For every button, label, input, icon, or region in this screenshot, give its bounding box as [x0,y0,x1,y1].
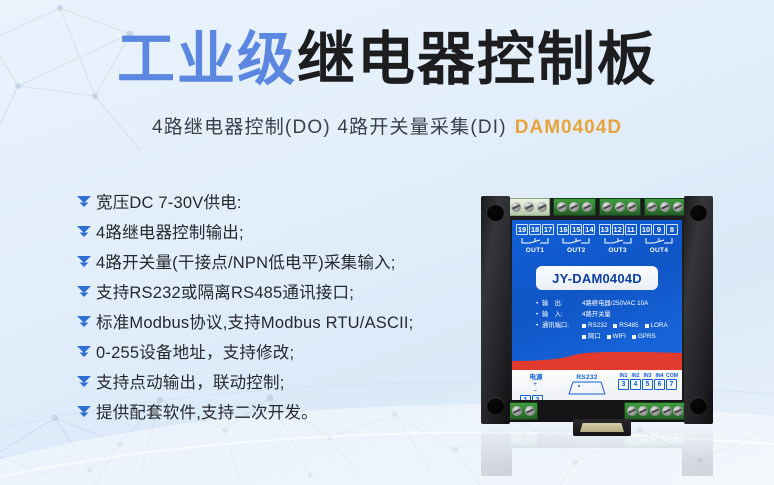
double-chevron-down-icon [74,222,96,240]
mounting-tab-left [481,196,510,424]
spec-value: 4路继电器/250VAC 10A [582,298,648,309]
spec-row-input: • 输 入: 4路开关量 [536,309,682,320]
terminal-block [624,402,686,420]
terminal-number: 17 [542,224,554,235]
pin-number: 3 [618,379,629,390]
product-device-image: 19 18 17 OUT1 16 15 14 [481,196,713,424]
relay-contact-symbol-icon [599,236,637,247]
terminal-number: 8 [666,224,678,235]
device-front-label: 19 18 17 OUT1 16 15 14 [512,220,682,370]
screw-icon [615,202,625,212]
terminal-number: 14 [583,224,595,235]
serial-port-label: RS232 [564,374,610,381]
feature-text: 支持RS232或隔离RS485通讯接口; [96,279,354,303]
screw-icon [524,202,534,212]
power-pin-row: 1 2 [520,395,552,400]
headline-blue-part: 工业级 [117,27,297,92]
spec-row-ports: • 通讯端口: RS232 RS485 LORA [536,320,682,331]
port-label: GPRS [638,331,656,342]
input-section: IN1 IN2 IN3 IN4 COM 3 4 5 6 7 [618,373,677,390]
spec-key: 通讯端口: [542,320,582,331]
checkbox-square-icon [645,324,649,328]
subtitle-text: 4路继电器控制(DO) 4路开关量采集(DI) [152,117,507,138]
model-plate: JY-DAM0404D [536,266,658,290]
feature-text: 标准Modbus协议,支持Modbus RTU/ASCII; [96,309,413,333]
double-chevron-down-icon [74,192,96,210]
db9-gap [541,402,621,420]
screw-icon [673,202,683,212]
port-label: LORA [651,320,668,331]
double-chevron-down-icon [74,402,96,420]
port-chip: RS485 [613,320,638,331]
port-chip: LORA [645,320,668,331]
port-chip-row: RS232 RS485 LORA [582,320,668,331]
pin-number: 2 [532,395,543,400]
pin-number: 4 [630,379,641,390]
feature-text: 提供配套软件,支持二次开发。 [96,399,318,423]
port-chip: GPRS [632,331,656,342]
terminal-number: 12 [612,224,624,235]
feature-text: 支持点动输出，联动控制; [96,369,284,393]
relay-contact-symbol-icon [640,236,678,247]
checkbox-square-icon [607,335,611,339]
screw-icon [647,202,657,212]
product-banner: 工业级继电器控制板 4路继电器控制(DO) 4路开关量采集(DI)DAM0404… [0,0,774,485]
screw-icon [662,406,672,416]
terminal-block [599,198,641,216]
feature-item: 支持RS232或隔离RS485通讯接口; [74,276,474,305]
spec-row-output: • 输 出: 4路继电器/250VAC 10A [536,298,682,309]
device-spec-list: • 输 出: 4路继电器/250VAC 10A • 输 入: 4路开关量 • 通… [536,298,682,342]
screw-icon [673,406,683,416]
terminal-block [508,198,550,216]
feature-item: 4路开关量(干接点/NPN低电平)采集输入; [74,246,474,275]
screw-icon [627,406,637,416]
feature-item: 标准Modbus协议,支持Modbus RTU/ASCII; [74,306,474,335]
screw-icon [525,406,535,416]
screw-icon [511,202,521,212]
screw-icon [582,202,592,212]
feature-text: 4路继电器控制输出; [96,219,244,243]
relay-contact-symbol-icon [516,236,554,247]
power-label: 电源 [520,371,552,381]
terminal-block [553,198,595,216]
port-chip: RS232 [582,320,607,331]
double-chevron-down-icon [74,312,96,330]
screw-icon [557,202,567,212]
output-group: 13 12 11 OUT3 [599,224,637,254]
feature-item: 支持点动输出，联动控制; [74,366,474,395]
mounting-tab-right [684,196,713,424]
serial-port-section: RS232 [564,374,610,400]
terminal-number: 16 [557,224,569,235]
device-bottom-label: 电源 + − 1 2 RS232 IN1 [512,370,682,400]
feature-item: 0-255设备地址，支持修改; [74,336,474,365]
port-label: 网口 [588,331,601,342]
port-label: RS485 [619,320,638,331]
double-chevron-down-icon [74,282,96,300]
spec-value: 4路开关量 [582,309,611,320]
input-pin-row: 3 4 5 6 7 [618,379,677,390]
spec-key: 输 入: [542,309,582,320]
pin-number: 5 [642,379,653,390]
terminal-block [508,402,538,420]
pin-number: 7 [666,379,677,390]
screw-icon [537,202,547,212]
screw-icon [602,202,612,212]
relay-contact-symbol-icon [557,236,595,247]
checkbox-square-icon [582,324,586,328]
port-label: RS232 [588,320,607,331]
port-chip: 网口 [582,331,601,342]
bottom-terminal-blocks [508,402,686,420]
terminal-number: 10 [640,224,652,235]
terminal-block [644,198,686,216]
feature-text: 0-255设备地址，支持修改; [96,339,294,363]
checkbox-square-icon [582,335,586,339]
terminal-number: 15 [570,224,582,235]
device-housing: 19 18 17 OUT1 16 15 14 [481,196,713,424]
model-plate-text: JY-DAM0404D [552,271,642,286]
output-group: 16 15 14 OUT2 [557,224,595,254]
output-group: 19 18 17 OUT1 [516,224,554,254]
db9-shell [580,423,624,432]
port-chip: WIFI [607,331,626,342]
pin-number: 1 [520,395,531,400]
terminal-number: 13 [599,224,611,235]
feature-item: 4路继电器控制输出; [74,216,474,245]
power-section: 电源 + − 1 2 [520,371,552,400]
mounting-hole-icon [487,397,504,414]
screw-icon [650,406,660,416]
screw-icon [512,406,522,416]
mounting-hole-icon [690,397,707,414]
mounting-hole-icon [487,204,504,221]
db9-connector-icon [564,381,610,395]
feature-text: 4路开关量(干接点/NPN低电平)采集输入; [96,249,396,273]
terminal-number: 11 [625,224,637,235]
terminal-number: 19 [516,224,528,235]
screw-icon [627,202,637,212]
red-accent-wave [512,352,682,370]
subtitle: 4路继电器控制(DO) 4路开关量采集(DI)DAM0404D [0,112,774,139]
feature-item: 宽压DC 7-30V供电: [74,186,474,215]
headline-dark-part: 继电器控制板 [297,27,657,92]
screw-icon [569,202,579,212]
mounting-hole-icon [690,204,707,221]
product-model: DAM0404D [515,117,622,138]
power-signs: + − [524,381,552,395]
double-chevron-down-icon [74,372,96,390]
db9-connector [573,419,631,436]
double-chevron-down-icon [74,252,96,270]
output-terminal-legend: 19 18 17 OUT1 16 15 14 [516,224,678,254]
spacer [542,331,582,342]
spec-key: 输 出: [542,298,582,309]
top-terminal-blocks [508,198,686,216]
double-chevron-down-icon [74,342,96,360]
checkbox-square-icon [613,324,617,328]
screw-icon [638,406,648,416]
port-label: WIFI [613,331,626,342]
port-chip-row: 网口 WIFI GPRS [582,331,656,342]
terminal-number: 18 [529,224,541,235]
page-title: 工业级继电器控制板 [0,28,774,92]
output-group: 10 9 8 OUT4 [640,224,678,254]
terminal-number: 9 [653,224,665,235]
spec-row-ports-2: 网口 WIFI GPRS [536,331,682,342]
feature-text: 宽压DC 7-30V供电: [96,189,242,213]
checkbox-square-icon [632,335,636,339]
screw-icon [660,202,670,212]
feature-list: 宽压DC 7-30V供电: 4路继电器控制输出; 4路开关量(干接点/NPN低电… [74,186,474,426]
feature-item: 提供配套软件,支持二次开发。 [74,396,474,425]
pin-number: 6 [654,379,665,390]
